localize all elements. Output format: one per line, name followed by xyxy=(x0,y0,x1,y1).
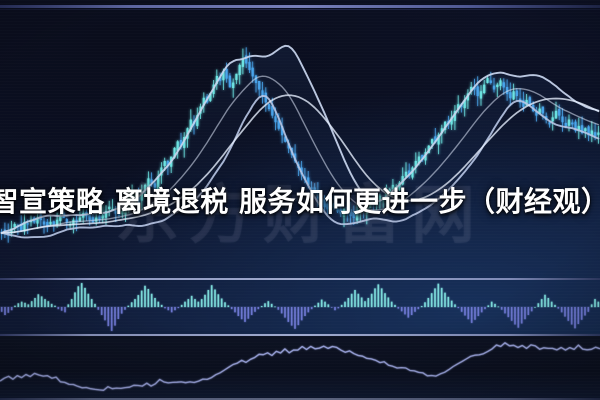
top-border-line-secondary xyxy=(0,9,600,10)
price-chart-panel xyxy=(0,12,600,278)
macd-histogram-panel xyxy=(0,280,600,332)
panel-divider-middle xyxy=(0,334,600,336)
chart-banner-image: 东方财富网 智宣策略 离境退税 服务如何更进一步（财经观） xyxy=(0,0,600,400)
top-border-line xyxy=(0,5,600,8)
candlestick-chart xyxy=(0,12,600,278)
indicator-line-chart xyxy=(0,336,600,400)
bottom-indicator-panel xyxy=(0,336,600,400)
panel-divider-top xyxy=(0,278,600,280)
macd-histogram xyxy=(0,280,600,332)
